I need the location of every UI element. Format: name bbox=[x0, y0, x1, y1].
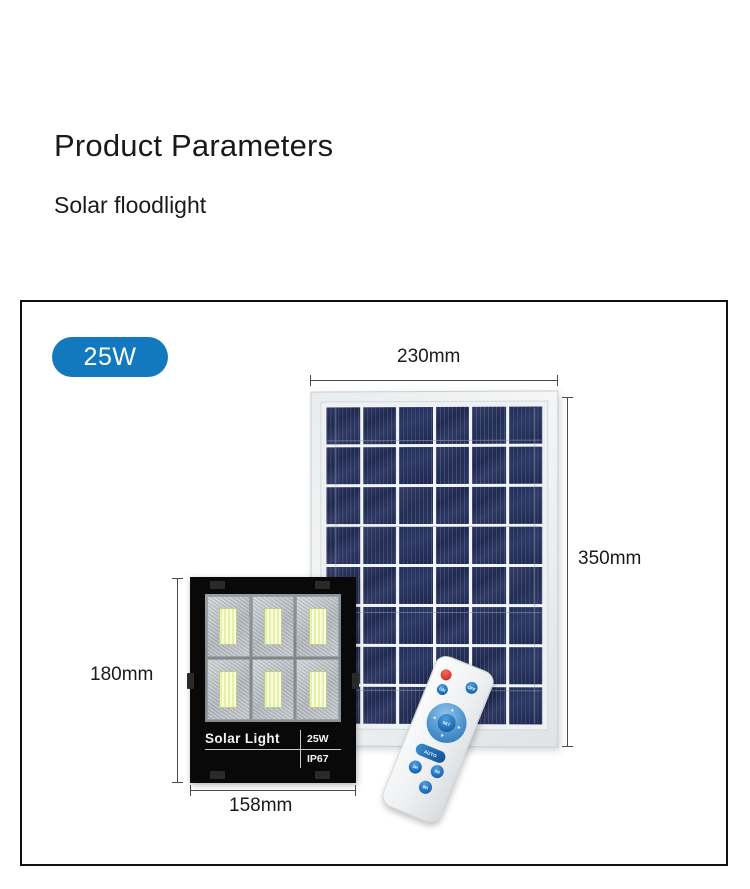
dimension-tick bbox=[355, 785, 356, 796]
solar-cell bbox=[326, 527, 359, 564]
led-chip-array bbox=[264, 608, 282, 646]
solar-cell bbox=[472, 567, 506, 604]
solar-cell bbox=[399, 487, 432, 524]
dimension-line-light-height bbox=[177, 578, 178, 783]
remote-timer-3h-button: 3H bbox=[407, 759, 424, 776]
remote-timer-5h-button: 5H bbox=[429, 763, 446, 780]
dimension-tick bbox=[190, 785, 191, 796]
solar-cell bbox=[472, 527, 506, 564]
mounting-tab bbox=[352, 673, 359, 689]
solar-cell bbox=[472, 407, 506, 444]
floodlight-ip-rating-text: IP67 bbox=[307, 753, 329, 765]
solar-cell bbox=[363, 567, 396, 604]
led-chip-array bbox=[219, 671, 237, 709]
solar-cell bbox=[509, 647, 543, 684]
solar-cell bbox=[435, 447, 469, 484]
solar-cell bbox=[509, 447, 543, 484]
solar-cell bbox=[435, 567, 469, 604]
label-divider bbox=[205, 749, 341, 750]
solar-cell bbox=[399, 647, 432, 684]
dimension-tick bbox=[557, 375, 558, 386]
dimension-label-panel-height: 350mm bbox=[578, 548, 641, 570]
dimension-tick bbox=[310, 375, 311, 386]
led-chip-array bbox=[219, 608, 237, 646]
mounting-tab bbox=[315, 581, 330, 589]
mounting-tab bbox=[210, 581, 225, 589]
solar-cell bbox=[363, 527, 396, 564]
solar-cell bbox=[472, 447, 506, 484]
dimension-tick bbox=[562, 746, 573, 747]
remote-power-button bbox=[439, 668, 453, 682]
solar-cell bbox=[509, 407, 543, 444]
solar-cell bbox=[509, 567, 543, 604]
floodlight-image: Solar Light 25W IP67 bbox=[190, 577, 356, 783]
page-subtitle: Solar floodlight bbox=[54, 192, 206, 219]
led-module bbox=[296, 659, 339, 720]
solar-cell bbox=[435, 407, 469, 444]
mounting-tab bbox=[210, 771, 225, 779]
solar-cell bbox=[363, 487, 396, 524]
dimension-label-panel-width: 230mm bbox=[397, 346, 460, 368]
dimension-tick bbox=[172, 782, 183, 783]
remote-center-button: SET bbox=[435, 711, 458, 734]
label-divider bbox=[300, 730, 301, 768]
chevron-down-icon: ▼ bbox=[438, 733, 445, 740]
page-title: Product Parameters bbox=[54, 128, 333, 164]
solar-cell bbox=[509, 487, 543, 524]
solar-cell bbox=[399, 527, 432, 564]
dimension-line-panel-height bbox=[567, 397, 568, 747]
dimension-line-panel-width bbox=[310, 380, 558, 381]
solar-cell bbox=[399, 407, 432, 444]
solar-cell bbox=[363, 687, 396, 724]
solar-cell bbox=[435, 487, 469, 524]
dimension-tick bbox=[562, 397, 573, 398]
led-module bbox=[296, 596, 339, 657]
mounting-tab bbox=[187, 673, 194, 689]
solar-cell bbox=[363, 407, 396, 444]
chevron-right-icon: ► bbox=[456, 724, 463, 731]
dimension-label-light-height: 180mm bbox=[90, 664, 153, 686]
solar-cell bbox=[326, 487, 359, 524]
floodlight-brand-text: Solar Light bbox=[205, 731, 280, 746]
led-module bbox=[252, 596, 295, 657]
solar-cell bbox=[326, 407, 359, 444]
solar-cell bbox=[363, 647, 396, 684]
led-module bbox=[207, 659, 250, 720]
solar-cell bbox=[363, 447, 396, 484]
dimension-label-light-width: 158mm bbox=[229, 795, 292, 817]
solar-cell bbox=[399, 447, 432, 484]
solar-cell bbox=[435, 527, 469, 564]
chevron-up-icon: ▲ bbox=[449, 707, 456, 714]
solar-busbar bbox=[534, 408, 535, 724]
remote-timer-8h-button: 8H bbox=[417, 779, 434, 796]
led-module bbox=[207, 596, 250, 657]
led-module-grid bbox=[205, 594, 341, 722]
solar-cell bbox=[399, 567, 432, 604]
solar-cell bbox=[509, 687, 543, 724]
led-chip-array bbox=[309, 608, 327, 646]
chevron-left-icon: ◄ bbox=[431, 714, 438, 721]
remote-on-button: ON bbox=[435, 682, 449, 696]
dimension-tick bbox=[172, 578, 183, 579]
remote-off-button: OFF bbox=[464, 680, 480, 696]
led-chip-array bbox=[264, 671, 282, 709]
solar-cell bbox=[472, 487, 506, 524]
floodlight-wattage-text: 25W bbox=[307, 733, 329, 745]
product-spec-card: 25W 230mm 350mm bbox=[20, 300, 728, 866]
dimension-line-light-width bbox=[190, 790, 356, 791]
solar-cell bbox=[509, 527, 543, 564]
mounting-tab bbox=[315, 771, 330, 779]
floodlight-label-panel: Solar Light 25W IP67 bbox=[205, 730, 341, 770]
solar-cell bbox=[326, 447, 359, 484]
remote-dpad: ▲ ▼ ◄ ► SET bbox=[421, 697, 473, 749]
wattage-badge: 25W bbox=[52, 337, 168, 377]
led-chip-array bbox=[309, 671, 327, 709]
led-module bbox=[252, 659, 295, 720]
